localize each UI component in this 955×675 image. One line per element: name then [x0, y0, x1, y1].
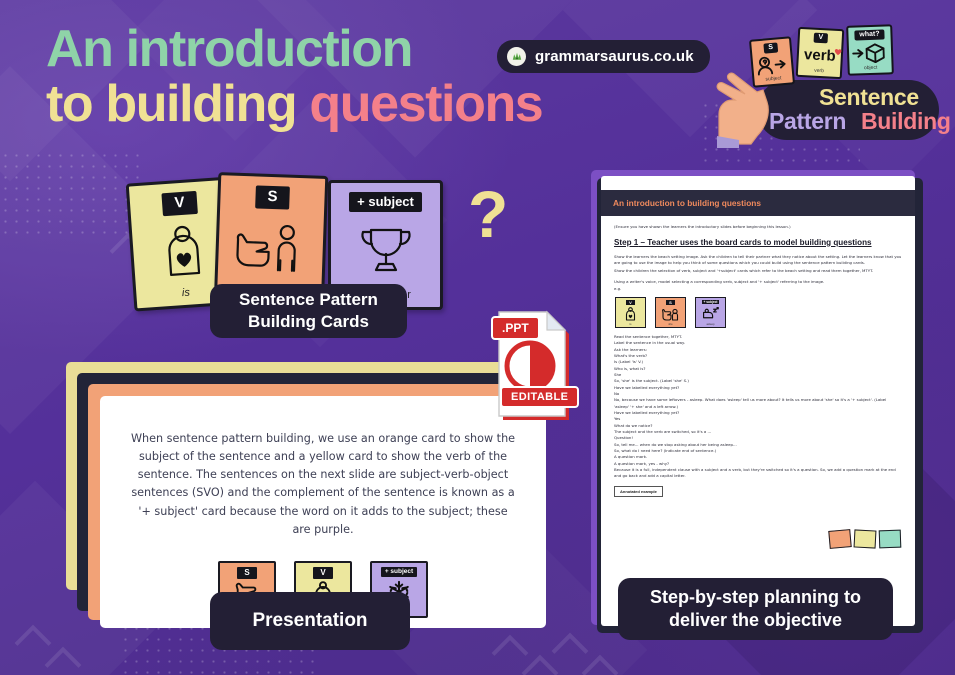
pointing-hand-person-icon: [662, 305, 680, 323]
title-line-2-building: to building: [46, 75, 309, 133]
site-badge-label: grammarsaurus.co.uk: [535, 48, 694, 65]
ppt-editable-label: EDITABLE: [511, 391, 568, 403]
sentence-cards-label-line1: Sentence Pattern: [239, 289, 378, 311]
title-line-2: to building questions: [46, 77, 542, 132]
doc-dialogue: Read the sentence together, MTYT.Label t…: [614, 334, 902, 480]
logo-card-tag: V: [813, 33, 828, 44]
person-heart-icon: [159, 213, 208, 288]
grammarsaurus-logo-icon: [507, 47, 526, 66]
slide-paragraph: When sentence pattern building, we use a…: [128, 430, 518, 539]
doc-card-verb: V is: [615, 297, 646, 328]
slide-card-tag: V: [313, 567, 332, 579]
doc-header: An introduction to building questions: [601, 190, 915, 216]
sentence-cards-label-line2: Building Cards: [248, 311, 369, 333]
doc-paragraph: Using a writer's voice, model selecting …: [614, 279, 902, 285]
slide-orange-border: When sentence pattern building, we use a…: [88, 384, 536, 620]
person-heart-icon: [624, 305, 637, 323]
doc-paragraph: Show the learners the beach setting imag…: [614, 254, 902, 266]
document-label-line1: Step-by-step planning to: [650, 586, 861, 609]
ppt-format-label: .PPT: [502, 321, 529, 335]
sleeping-icon: [702, 304, 720, 323]
doc-body: (Ensure you have shown the learners the …: [601, 216, 915, 498]
doc-note: (Ensure you have shown the learners the …: [614, 224, 902, 230]
logo-line-1: Sentence: [819, 84, 919, 111]
big-card-tag: V: [162, 191, 198, 216]
doc-step-number: Step 1: [614, 238, 638, 247]
big-card-word: is: [182, 287, 191, 300]
presentation-label: Presentation: [210, 592, 410, 650]
doc-dialogue-line: No, because we have some leftovers - asl…: [614, 397, 902, 410]
doc-card-subject: S she: [655, 297, 686, 328]
doc-step-title: Step 1 – Teacher uses the board cards to…: [614, 238, 902, 247]
doc-card-plus-subject: + subject asleep: [695, 297, 726, 328]
doc-card-word: asleep: [707, 323, 715, 326]
doc-dialogue-line: Because it is a full, independent clause…: [614, 467, 902, 480]
logo-card-verb: V verb verb: [796, 27, 845, 79]
doc-paragraph: e.g.: [614, 286, 902, 292]
sentence-pattern-building-logo: S subject V verb verb what? object Sente…: [709, 22, 939, 142]
logo-card-object: what? object: [846, 24, 894, 76]
planning-document[interactable]: An introduction to building questions (E…: [591, 170, 925, 635]
cube-icon: [849, 40, 892, 66]
doc-page: An introduction to building questions (E…: [601, 176, 915, 626]
ppt-editable-badge[interactable]: .PPT EDITABLE: [489, 308, 581, 430]
background-dots: [0, 150, 140, 240]
doc-annotated-example-box: Annotated example: [614, 486, 663, 497]
hand-icon: [705, 70, 777, 148]
document-label-line2: deliver the objective: [669, 609, 842, 632]
logo-card-word: verb: [814, 68, 824, 75]
trophy-icon: [357, 212, 415, 289]
doc-cards-row: V is S she + subject: [615, 297, 902, 328]
doc-footer-cards: [829, 530, 901, 548]
title-line-1: An introduction: [46, 22, 542, 77]
slide-card-tag: S: [237, 567, 256, 579]
sentence-cards-label: Sentence Pattern Building Cards: [210, 284, 407, 338]
presentation-slide[interactable]: When sentence pattern building, we use a…: [66, 362, 536, 620]
site-badge[interactable]: grammarsaurus.co.uk: [497, 40, 710, 73]
verb-heart-icon: verb: [798, 42, 841, 69]
pointing-hand-person-icon: [233, 208, 308, 289]
page-title: An introduction to building questions: [46, 22, 542, 132]
title-line-2-questions: questions: [309, 75, 542, 133]
ppt-editable-tag: EDITABLE: [500, 386, 579, 408]
slide-card-tag: + subject: [381, 567, 417, 577]
verb-text: verb: [804, 46, 837, 65]
doc-paragraph: Show the children the selection of verb,…: [614, 268, 902, 274]
presentation-label-text: Presentation: [252, 610, 367, 632]
doc-card-word: she: [668, 323, 672, 326]
ppt-format-tag: .PPT: [491, 316, 540, 340]
doc-step-text: – Teacher uses the board cards to model …: [638, 238, 871, 247]
logo-line-2-pattern: Pattern: [769, 108, 846, 135]
big-card-tag: S: [255, 185, 290, 209]
document-label: Step-by-step planning to deliver the obj…: [618, 578, 893, 640]
logo-line-2-building: Building: [861, 108, 951, 135]
logo-card-word: object: [864, 65, 878, 71]
doc-card-word: is: [630, 323, 632, 326]
big-card-tag: + subject: [349, 192, 422, 212]
question-mark-decoration: ?: [468, 176, 508, 252]
